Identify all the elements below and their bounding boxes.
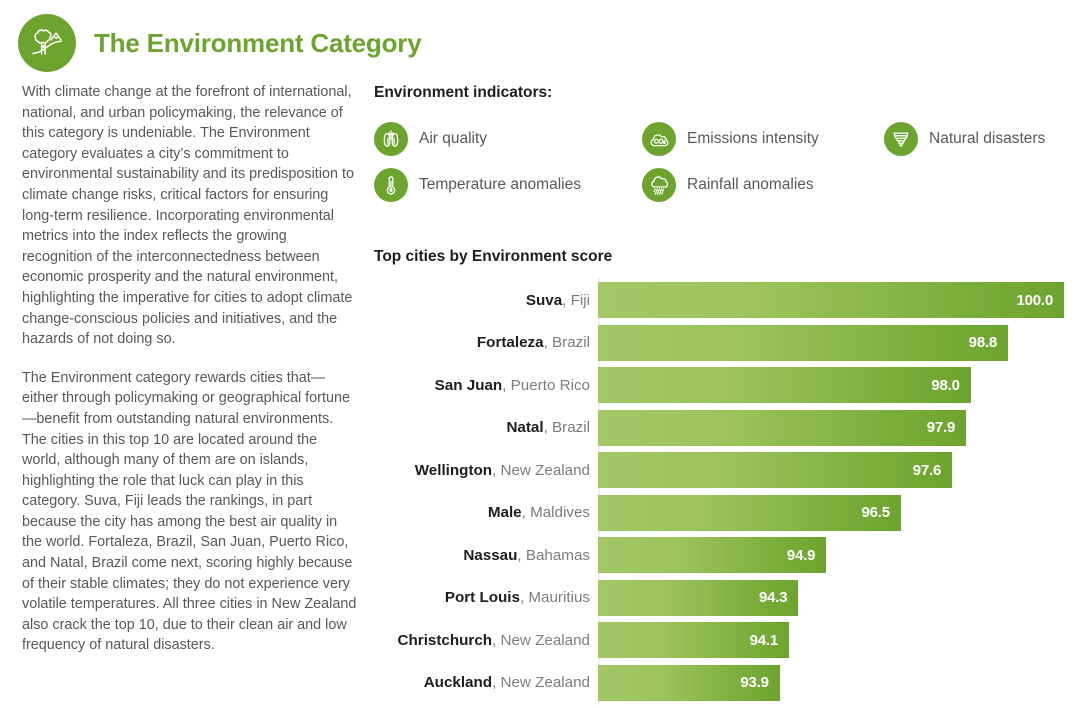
indicator-label: Rainfall anomalies [687,176,814,194]
chart-row-label: Auckland, New Zealand [374,674,598,691]
bar: 94.1 [598,622,789,658]
chart-row-label: Suva, Fiji [374,292,598,309]
bar: 98.8 [598,325,1008,361]
country-name: , Mauritius [520,589,590,606]
bar-track: 96.5 [598,495,1064,531]
city-name: Fortaleza [477,334,544,351]
bar: 96.5 [598,495,901,531]
bar-value-label: 94.1 [750,632,778,649]
bar-value-label: 94.3 [759,589,787,606]
indicator-label: Temperature anomalies [419,176,581,194]
page-title: The Environment Category [94,28,421,59]
city-name: Wellington [415,462,492,479]
bar-value-label: 97.9 [927,419,955,436]
bar-track: 100.0 [598,282,1064,318]
city-name: Male [488,504,522,521]
country-name: , New Zealand [492,632,590,649]
country-name: , Brazil [544,334,590,351]
chart-row-label: Natal, Brazil [374,419,598,436]
bar-track: 97.9 [598,410,1064,446]
bar-track: 93.9 [598,665,1064,701]
city-name: San Juan [435,377,503,394]
chart-row: Wellington, New Zealand97.6 [374,452,1064,488]
tornado-icon [884,122,918,156]
chart-row-label: Nassau, Bahamas [374,547,598,564]
bar: 94.9 [598,537,826,573]
bar-track: 94.3 [598,580,1064,616]
indicator-temperature-anomalies: Temperature anomalies [374,168,642,202]
bar: 98.0 [598,367,971,403]
city-name: Auckland [424,674,492,691]
bar-track: 94.1 [598,622,1064,658]
bar: 100.0 [598,282,1064,318]
chart-row: Male, Maldives96.5 [374,495,1064,531]
chart-title: Top cities by Environment score [374,248,1064,266]
indicator-air-quality: Air quality [374,122,642,156]
indicator-label: Air quality [419,130,487,148]
chart-row: Nassau, Bahamas94.9 [374,537,1064,573]
bar-track: 97.6 [598,452,1064,488]
country-name: , New Zealand [492,462,590,479]
bar-value-label: 97.6 [913,462,941,479]
chart-row-label: San Juan, Puerto Rico [374,377,598,394]
bar-track: 98.8 [598,325,1064,361]
indicator-label: Natural disasters [929,130,1045,148]
category-description: With climate change at the forefront of … [22,82,358,656]
page-header: The Environment Category [18,14,421,72]
city-name: Suva [526,292,562,309]
bar: 94.3 [598,580,798,616]
chart-row: Fortaleza, Brazil98.8 [374,325,1064,361]
bar-track: 98.0 [598,367,1064,403]
chart-row: Auckland, New Zealand93.9 [374,665,1064,701]
bar: 97.6 [598,452,952,488]
indicator-natural-disasters: Natural disasters [884,122,1064,156]
chart-rows: Suva, Fiji100.0Fortaleza, Brazil98.8San … [374,282,1064,701]
tree-mountain-icon [18,14,76,72]
co2-cloud-icon [642,122,676,156]
rain-cloud-icon [642,168,676,202]
bar-value-label: 93.9 [740,674,768,691]
bar-value-label: 98.8 [969,334,997,351]
top-cities-chart: Top cities by Environment score Suva, Fi… [374,248,1064,701]
bar-value-label: 94.9 [787,547,815,564]
chart-row-label: Wellington, New Zealand [374,462,598,479]
chart-row: San Juan, Puerto Rico98.0 [374,367,1064,403]
country-name: , Maldives [522,504,590,521]
country-name: , Brazil [544,419,590,436]
bar-track: 94.9 [598,537,1064,573]
city-name: Nassau [463,547,517,564]
chart-row: Natal, Brazil97.9 [374,410,1064,446]
city-name: Christchurch [398,632,493,649]
country-name: , Fiji [562,292,590,309]
indicators-heading: Environment indicators: [374,84,1064,102]
indicator-label: Emissions intensity [687,130,819,148]
indicators-section: Environment indicators: [374,84,1064,208]
indicator-list: Air quality Emissions intensity [374,116,1064,208]
bar: 97.9 [598,410,966,446]
chart-row-label: Christchurch, New Zealand [374,632,598,649]
chart-row: Suva, Fiji100.0 [374,282,1064,318]
chart-row: Christchurch, New Zealand94.1 [374,622,1064,658]
thermometer-icon [374,168,408,202]
chart-row-label: Port Louis, Mauritius [374,589,598,606]
description-paragraph-1: With climate change at the forefront of … [22,82,358,350]
bar: 93.9 [598,665,780,701]
city-name: Port Louis [445,589,520,606]
indicator-emissions-intensity: Emissions intensity [642,122,884,156]
city-name: Natal [506,419,543,436]
country-name: , Puerto Rico [502,377,590,394]
chart-row-label: Male, Maldives [374,504,598,521]
bar-value-label: 98.0 [931,377,959,394]
country-name: , New Zealand [492,674,590,691]
bar-value-label: 96.5 [861,504,889,521]
country-name: , Bahamas [517,547,590,564]
bar-value-label: 100.0 [1016,292,1053,309]
lungs-icon [374,122,408,156]
chart-row: Port Louis, Mauritius94.3 [374,580,1064,616]
description-paragraph-2: The Environment category rewards cities … [22,368,358,656]
indicator-rainfall-anomalies: Rainfall anomalies [642,168,884,202]
chart-row-label: Fortaleza, Brazil [374,334,598,351]
